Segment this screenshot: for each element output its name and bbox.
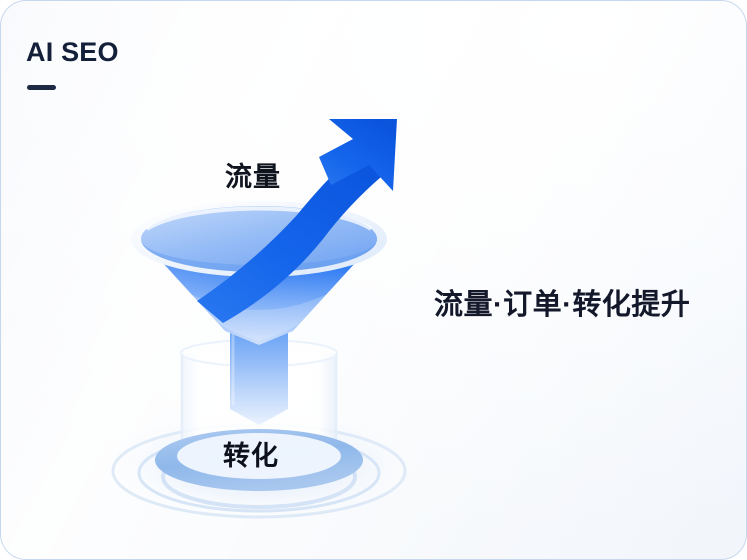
funnel-illustration <box>1 1 747 560</box>
label-conversion: 转化 <box>223 434 279 473</box>
illustration-card: AI SEO 流量·订单·转化提升 <box>0 0 747 560</box>
label-traffic: 流量 <box>225 155 281 194</box>
